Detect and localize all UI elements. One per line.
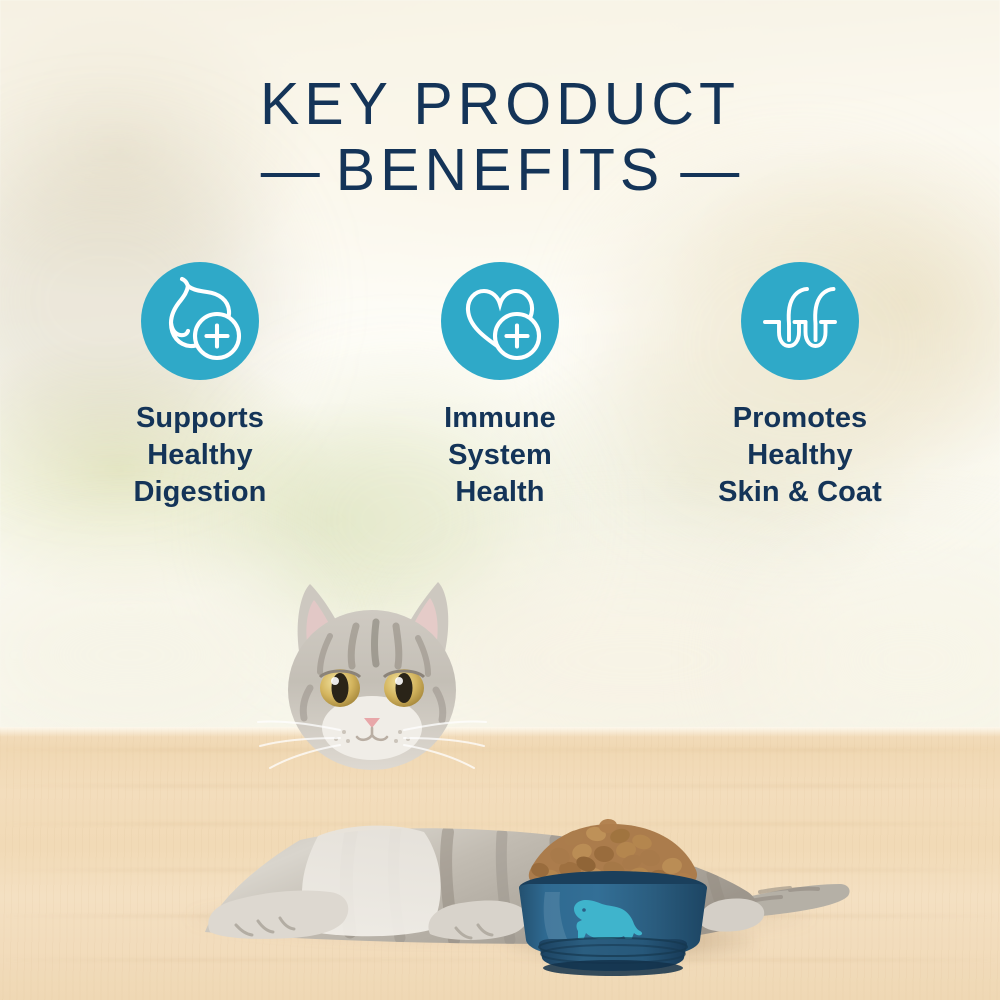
benefit-item-digestion: Supports Healthy Digestion: [60, 262, 340, 511]
hair-follicles-icon: [741, 260, 859, 383]
page-title: KEY PRODUCT —BENEFITS—: [0, 74, 1000, 201]
benefit-label-line: Promotes: [718, 400, 882, 437]
benefit-label-line: Skin & Coat: [718, 474, 882, 511]
heart-plus-icon: [441, 260, 559, 383]
title-dash-left: —: [261, 140, 320, 201]
cat-and-bowl-photo: [0, 540, 1000, 1000]
benefit-icon-badge: [141, 262, 259, 380]
benefit-icon-badge: [441, 262, 559, 380]
benefit-label-line: Immune: [444, 400, 556, 437]
benefit-label-line: System: [444, 437, 556, 474]
benefit-label-line: Healthy: [718, 437, 882, 474]
page-title-line-2: —BENEFITS—: [0, 140, 1000, 201]
title-dash-right: —: [680, 140, 739, 201]
benefit-item-immune: Immune System Health: [360, 262, 640, 511]
benefit-label-line: Health: [444, 474, 556, 511]
benefit-label-immune: Immune System Health: [444, 400, 556, 511]
benefit-icon-badge: [741, 262, 859, 380]
stomach-plus-icon: [141, 260, 259, 383]
cat-head: [258, 582, 486, 770]
product-benefits-poster: KEY PRODUCT —BENEFITS—: [0, 0, 1000, 1000]
benefit-label-line: Healthy: [133, 437, 266, 474]
benefit-label-line: Supports: [133, 400, 266, 437]
benefits-row: Supports Healthy Digestion: [60, 262, 940, 511]
benefit-label-digestion: Supports Healthy Digestion: [133, 400, 266, 511]
cat-bowl-artwork: [0, 540, 1000, 1000]
benefit-item-skin-coat: Promotes Healthy Skin & Coat: [660, 262, 940, 511]
benefit-label-skin-coat: Promotes Healthy Skin & Coat: [718, 400, 882, 511]
page-title-line-2-text: BENEFITS: [336, 137, 665, 203]
page-title-line-1: KEY PRODUCT: [0, 74, 1000, 135]
benefit-label-line: Digestion: [133, 474, 266, 511]
